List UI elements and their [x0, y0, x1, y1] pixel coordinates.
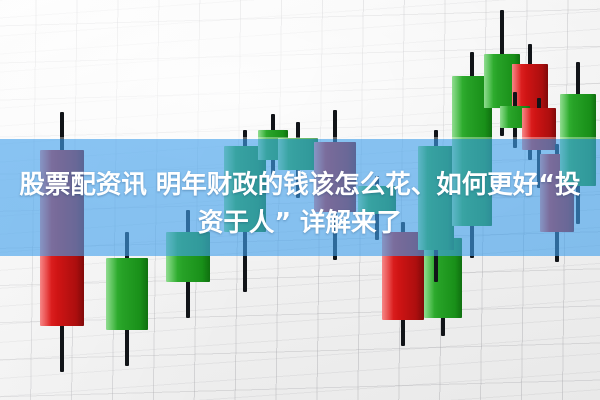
candle-body-up: [106, 258, 148, 330]
news-thumbnail-image: 股票配资讯 明年财政的钱该怎么花、如何更好“投 资于人” 详解来了: [0, 0, 600, 400]
headline-line-1: 股票配资讯 明年财政的钱该怎么花、如何更好“投: [0, 165, 600, 206]
headline-line-2: 资于人” 详解来了: [0, 203, 600, 244]
